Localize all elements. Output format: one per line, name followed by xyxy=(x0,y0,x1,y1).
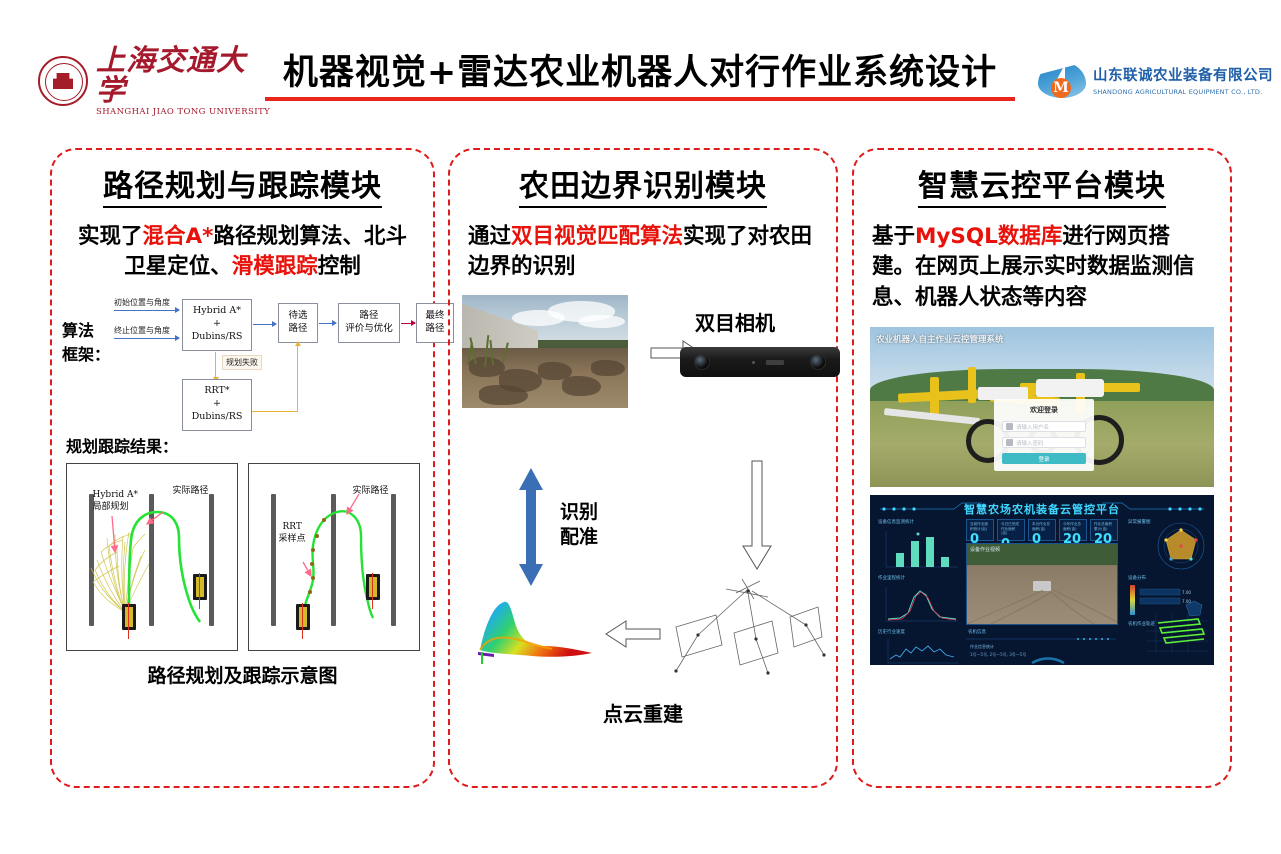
flow-node-line2: + xyxy=(213,398,221,411)
device-status-bar-chart xyxy=(878,527,960,571)
rrt-paths xyxy=(249,464,420,651)
password-placeholder: 请输入密码 xyxy=(1016,439,1044,447)
recognition-registration-label: 识别 配准 xyxy=(560,500,598,551)
module-body-cloud-platform: 基于MySQL数据库进行网页搭建。在网页上展示实时数据监测信息、机器人状态等内容 xyxy=(872,222,1212,314)
panel-label-device-stats: 设备信息监测统计 xyxy=(878,519,914,525)
flow-arrow-candidate-to-eval xyxy=(319,323,336,324)
panel-label-distribution: 设备分布 xyxy=(1128,575,1146,581)
sjtu-logo-text: 上海交通大学 SHANGHAI JIAO TONG UNIVERSITY xyxy=(96,45,270,118)
body-highlight-stereo-matching: 双目视觉匹配算法 xyxy=(511,224,683,249)
flow-arrow-hybrid-to-candidate xyxy=(253,324,276,325)
panel-label-alarm: 异常报警图 xyxy=(1128,519,1151,525)
body-text-part: 通过 xyxy=(468,224,511,249)
algorithm-framework-diagram: 算法 框架： 初始位置与角度 终止位置与角度 Hybrid A* + Dubin… xyxy=(52,295,433,425)
company-logo: M 山东联诚农业装备有限公司 SHANDONG AGRICULTURAL EQU… xyxy=(1038,54,1253,106)
robot-marker-end xyxy=(366,574,380,600)
flow-node-line1: RRT* xyxy=(204,385,229,398)
login-screenshot: 农业机器人自主作业云控管理系统 欢迎登录 请输入用户名 请输入密码 登录 xyxy=(870,327,1214,487)
boundary-bottom-row: 识别 配准 xyxy=(450,460,836,750)
robot-marker-start xyxy=(122,604,136,630)
sjtu-seal-icon xyxy=(38,56,88,106)
kpi-card: 当前作业面积统计(亩) 0 xyxy=(966,519,994,541)
stereo-camera-image xyxy=(680,347,840,377)
alarm-radar-chart xyxy=(1156,521,1206,571)
robot-marker-end xyxy=(193,574,207,600)
company-mark-icon: M xyxy=(1038,58,1086,102)
flow-arrow-plan-fail xyxy=(215,352,216,378)
arrow-left-icon xyxy=(605,620,661,648)
flow-node-path-evaluation: 路径 评价与优化 xyxy=(338,303,400,343)
figure-note-rrt: RRT xyxy=(283,522,302,534)
login-card: 欢迎登录 请输入用户名 请输入密码 登录 xyxy=(994,399,1094,471)
algo-label-line1: 算法 xyxy=(62,319,110,343)
robot-marker-start xyxy=(296,604,310,630)
flow-node-line1: 最终 xyxy=(425,310,444,323)
robot-cover xyxy=(1036,379,1104,397)
kpi-label: 当前作业面积统计(亩) xyxy=(970,522,990,531)
flow-node-line1: 路径 xyxy=(359,310,378,323)
kpi-card: 今日已完成作业面积(亩) 0 xyxy=(997,519,1025,541)
svg-text:1号—5号, 2号—5号, 3号—5号: 1号—5号, 2号—5号, 3号—5号 xyxy=(970,651,1026,657)
figure-note-actual-path: 实际路径 xyxy=(173,486,209,498)
camera-lens-left-icon xyxy=(694,354,710,370)
figure-note-hybrid-astar: Hybrid A* xyxy=(93,490,139,502)
sjtu-name-cn: 上海交通大学 xyxy=(96,45,270,106)
body-highlight-hybrid-astar: 混合A* xyxy=(143,224,214,249)
page-title: 机器视觉+雷达农业机器人对行作业系统设计 xyxy=(265,52,1015,94)
kpi-label: 作业总面积累计(亩) xyxy=(1094,522,1114,531)
sjtu-logo: 上海交通大学 SHANGHAI JIAO TONG UNIVERSITY xyxy=(38,52,250,110)
flow-input-label-end: 终止位置与角度 xyxy=(114,325,170,336)
mileage-line-chart xyxy=(878,583,960,625)
flow-label-plan-fail: 规划失败 xyxy=(222,355,262,370)
main-title-block: 机器视觉+雷达农业机器人对行作业系统设计 xyxy=(265,52,1015,101)
flow-node-line2: + xyxy=(213,318,221,331)
flow-arrow-eval-to-final xyxy=(401,323,415,324)
login-system-title: 农业机器人自主作业云控管理系统 xyxy=(876,333,1004,345)
flow-arrow-input2 xyxy=(114,338,179,339)
flow-line-rrt-right xyxy=(252,411,298,412)
body-highlight-sliding-mode: 滑模跟踪 xyxy=(232,254,318,279)
figure-note-sample-points: 采样点 xyxy=(279,534,306,546)
module-heading-boundary-recognition: 农田边界识别模块 xyxy=(519,168,767,208)
panel-label-speed: 历史行业速度 xyxy=(878,629,905,635)
kpi-card: 本月作业总面积(亩) 0 xyxy=(1028,519,1056,541)
login-card-title: 欢迎登录 xyxy=(1002,405,1086,415)
machine-info-panel: 作业信息统计 1号—5号, 2号—5号, 3号—5号 xyxy=(966,637,1116,665)
flow-node-candidate-path: 待选 路径 xyxy=(278,303,318,343)
flow-node-line2: 路径 xyxy=(425,323,444,336)
field-photo xyxy=(462,295,628,408)
flow-node-hybrid-astar: Hybrid A* + Dubins/RS xyxy=(182,299,252,351)
module-body-boundary-recognition: 通过双目视觉匹配算法实现了对农田边界的识别 xyxy=(468,222,818,283)
figure-note-actual-path: 实际路径 xyxy=(353,486,389,498)
camera-lens-right-icon xyxy=(810,354,826,370)
kpi-card: 作业总面积累计(亩) 20 xyxy=(1090,519,1118,541)
body-text-part: 实现了 xyxy=(78,224,143,249)
page-header: 上海交通大学 SHANGHAI JIAO TONG UNIVERSITY 机器视… xyxy=(0,0,1281,135)
lock-icon xyxy=(1006,439,1013,446)
algorithm-framework-label: 算法 框架： xyxy=(62,319,110,367)
flow-node-line3: Dubins/RS xyxy=(192,331,243,344)
figure-hybrid-astar: Hybrid A* 局部规划 实际路径 xyxy=(66,463,238,651)
stereo-camera-label: 双目相机 xyxy=(695,307,775,336)
point-cloud-caption: 点云重建 xyxy=(450,698,836,727)
flow-arrow-input1 xyxy=(114,310,179,311)
dashboard-screenshot: 智慧农场农机装备云管控平台 设备信息监测统计 xyxy=(870,495,1214,665)
dashboard-title: 智慧农场农机装备云管控平台 xyxy=(870,501,1214,517)
figure-caption-path-planning: 路径规划及跟踪示意图 xyxy=(52,661,433,688)
svg-text:作业信息统计: 作业信息统计 xyxy=(970,643,994,649)
bidirectional-arrow-icon xyxy=(518,468,544,586)
flow-node-line1: 待选 xyxy=(288,310,307,323)
kpi-card: 今年作业总面积(亩) 20 xyxy=(1059,519,1087,541)
recognition-label-line1: 识别 xyxy=(560,500,598,526)
planning-figures-row: Hybrid A* 局部规划 实际路径 xyxy=(52,463,433,651)
company-mark-letter: M xyxy=(1051,78,1071,98)
flow-node-line2: 评价与优化 xyxy=(345,323,393,336)
flow-node-line1: Hybrid A* xyxy=(193,305,241,318)
panel-label-mileage: 作业里程统计 xyxy=(878,575,905,581)
recognition-label-line2: 配准 xyxy=(560,525,598,551)
flow-node-line2: 路径 xyxy=(288,323,307,336)
module-card-cloud-platform: 智慧云控平台模块 基于MySQL数据库进行网页搭建。在网页上展示实时数据监测信息… xyxy=(852,148,1232,788)
panel-label-machine-info: 农机信息 xyxy=(968,629,986,635)
algo-label-line2: 框架： xyxy=(62,343,110,367)
company-name-en: SHANDONG AGRICULTURAL EQUIPMENT CO., LTD… xyxy=(1093,88,1273,96)
body-text-part: 基于 xyxy=(872,224,915,249)
flow-node-line3: Dubins/RS xyxy=(192,411,243,424)
user-icon xyxy=(1006,423,1013,430)
planning-result-label: 规划跟踪结果： xyxy=(66,433,433,457)
body-highlight-mysql: MySQL数据库 xyxy=(915,224,1062,249)
point-cloud-visualization xyxy=(470,592,600,664)
company-logo-text: 山东联诚农业装备有限公司 SHANDONG AGRICULTURAL EQUIP… xyxy=(1093,64,1273,96)
login-button[interactable]: 登录 xyxy=(1002,453,1086,464)
boundary-top-row: 双目相机 xyxy=(450,295,836,460)
flow-node-rrt-star: RRT* + Dubins/RS xyxy=(182,379,252,431)
module-card-boundary-recognition: 农田边界识别模块 通过双目视觉匹配算法实现了对农田边界的识别 xyxy=(448,148,838,788)
password-input[interactable]: 请输入密码 xyxy=(1002,437,1086,448)
kpi-label: 今年作业总面积(亩) xyxy=(1063,522,1083,531)
module-body-path-planning: 实现了混合A*路径规划算法、北斗卫星定位、滑模跟踪控制 xyxy=(70,222,415,283)
kpi-label: 今日已完成作业面积(亩) xyxy=(1001,522,1021,535)
flow-arrow-rrt-to-candidate xyxy=(297,345,298,412)
arrow-down-icon xyxy=(742,460,772,570)
username-placeholder: 请输入用户名 xyxy=(1016,423,1049,431)
company-name-cn: 山东联诚农业装备有限公司 xyxy=(1093,64,1273,85)
module-heading-cloud-platform: 智慧云控平台模块 xyxy=(918,168,1166,208)
stereo-geometry-diagram xyxy=(668,575,828,680)
username-input[interactable]: 请输入用户名 xyxy=(1002,421,1086,432)
figure-note-local-planning: 局部规划 xyxy=(93,502,129,514)
sjtu-name-en: SHANGHAI JIAO TONG UNIVERSITY xyxy=(96,107,270,117)
robot-mast xyxy=(968,367,976,403)
kpi-label: 本月作业总面积(亩) xyxy=(1032,522,1052,531)
operation-video-feed: 设备作业视频 xyxy=(966,543,1118,625)
speed-line-chart xyxy=(878,637,960,665)
module-card-path-planning: 路径规划与跟踪模块 实现了混合A*路径规划算法、北斗卫星定位、滑模跟踪控制 算法… xyxy=(50,148,435,788)
trajectory-chart xyxy=(1146,613,1208,653)
figure-rrt: RRT 采样点 实际路径 xyxy=(248,463,420,651)
body-text-part: 控制 xyxy=(318,254,361,279)
module-heading-path-planning: 路径规划与跟踪模块 xyxy=(103,168,382,208)
title-underline xyxy=(265,97,1015,101)
flow-input-label-start: 初始位置与角度 xyxy=(114,297,170,308)
svg-text:7.00: 7.00 xyxy=(1182,590,1191,595)
